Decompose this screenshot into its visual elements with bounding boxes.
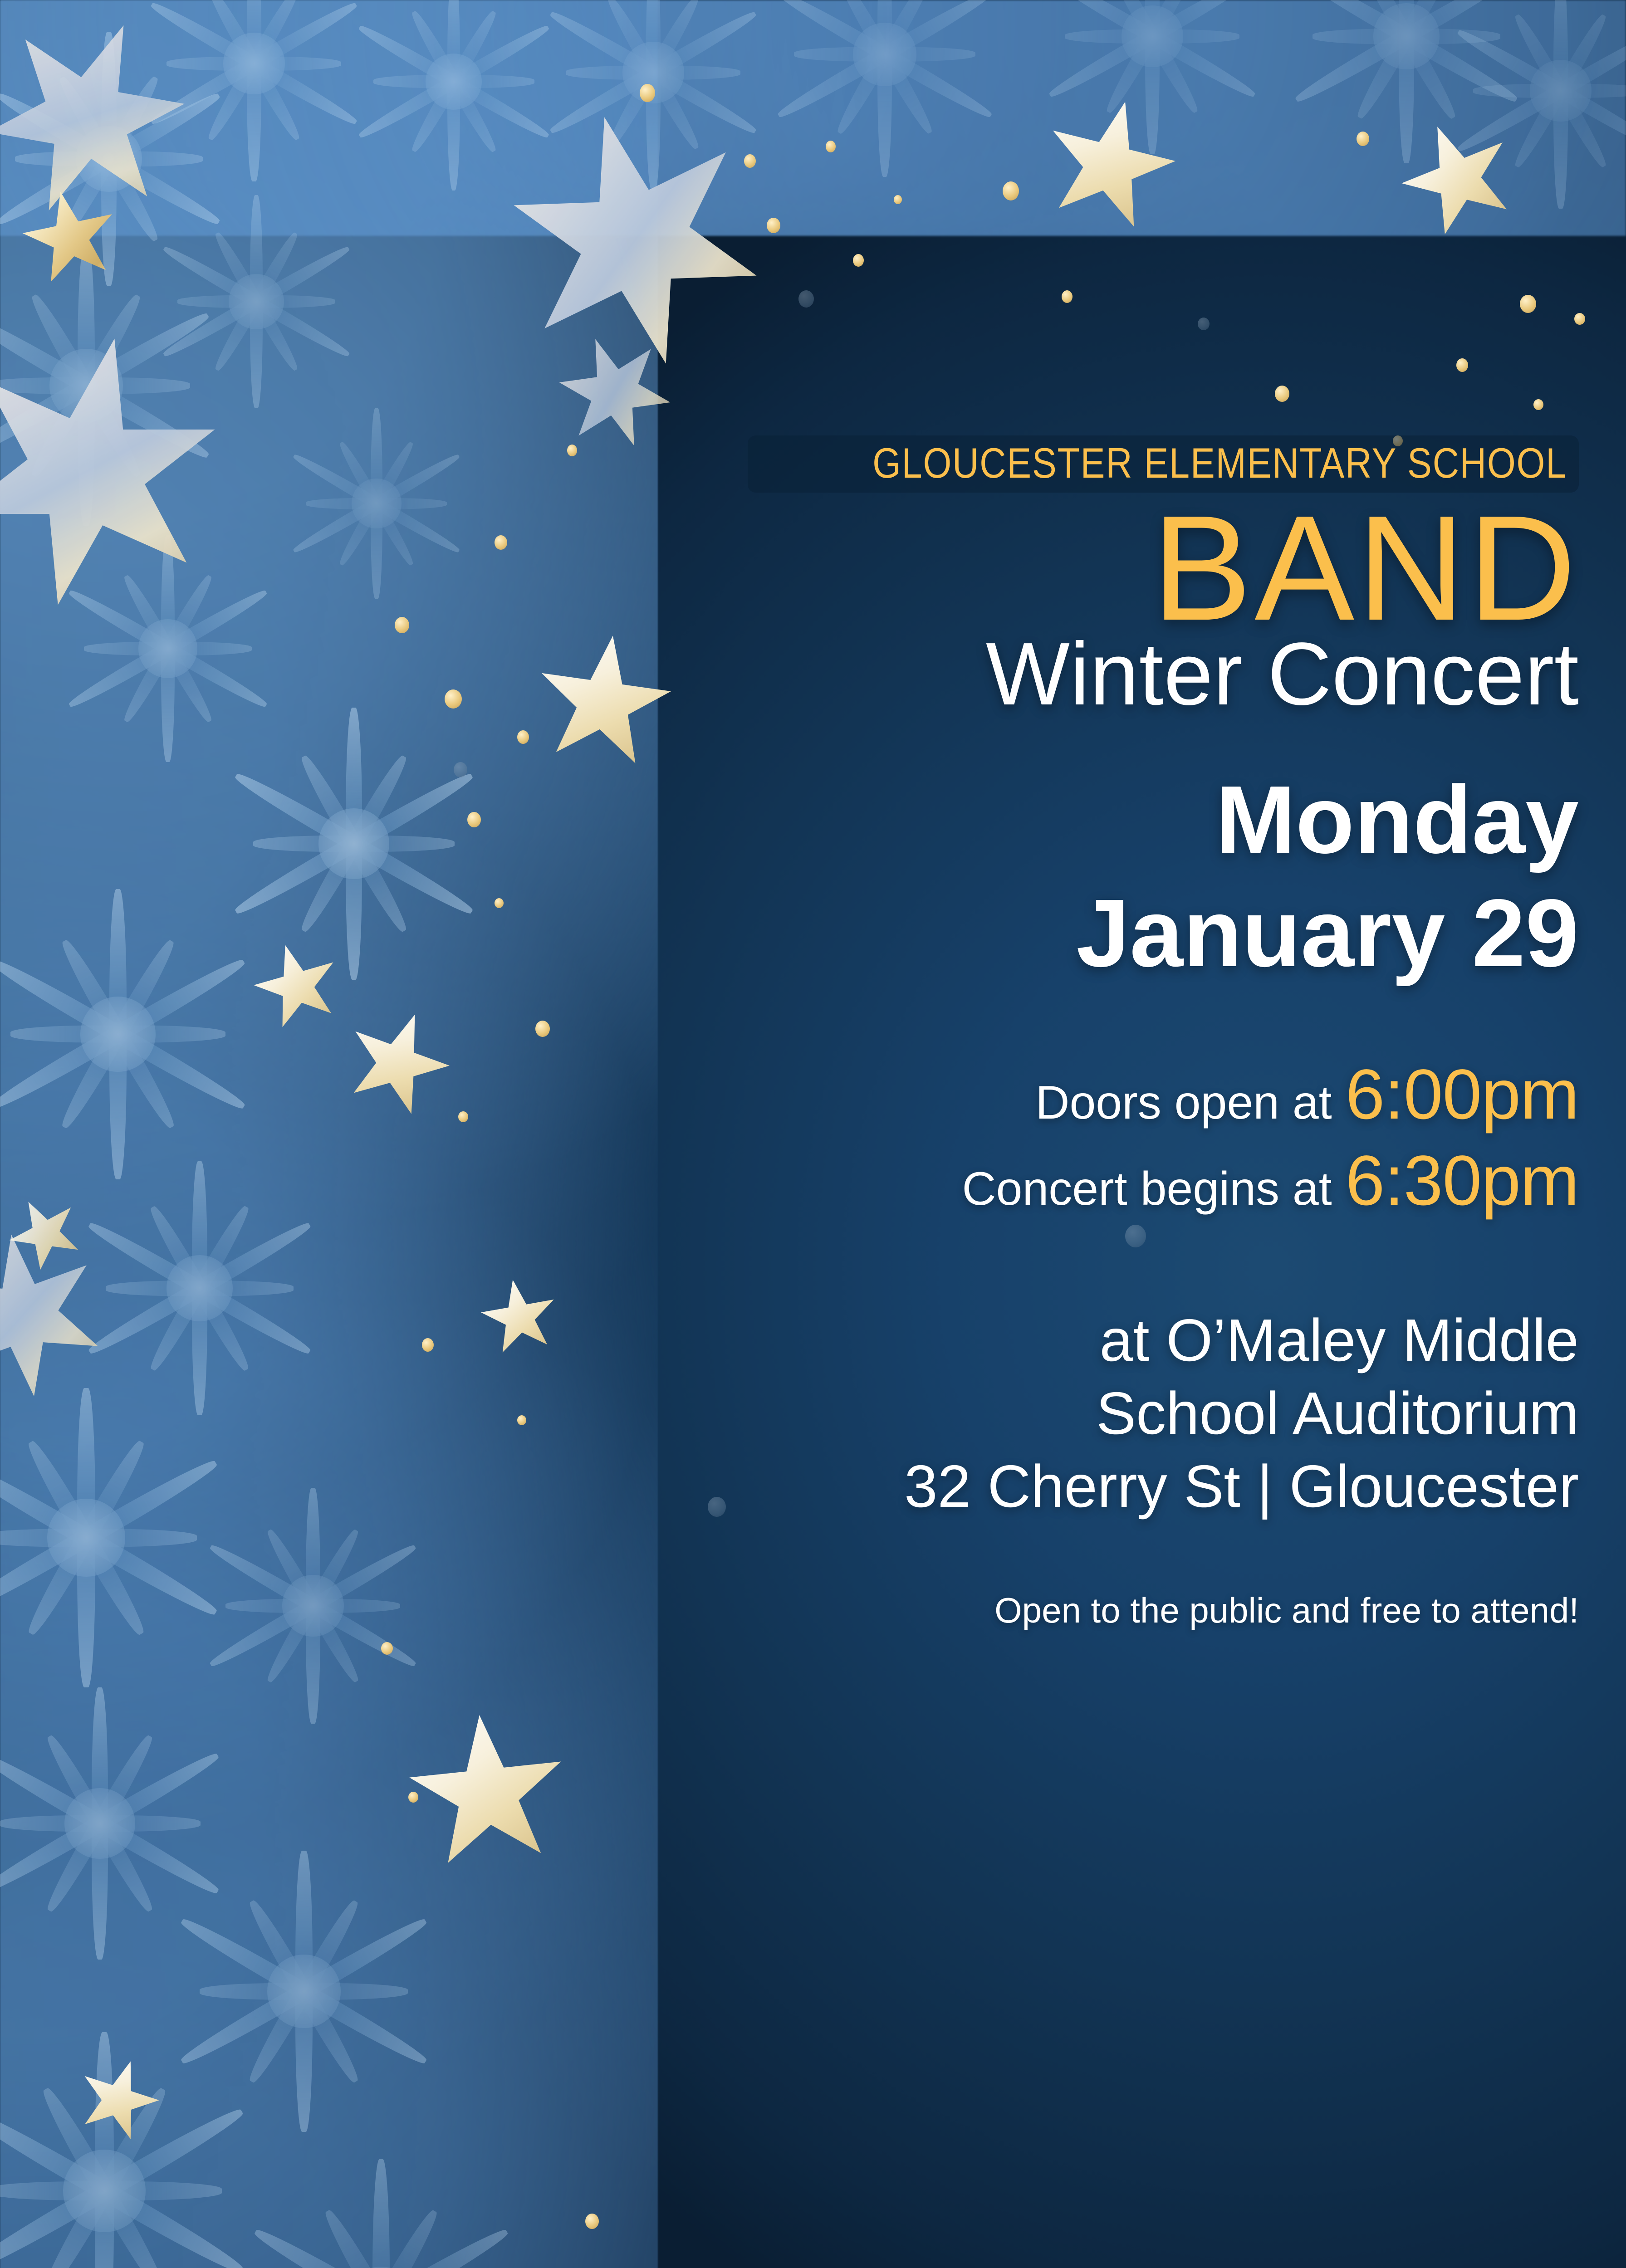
- snowflake-icon: [54, 535, 281, 762]
- snowflake-icon: [150, 195, 363, 408]
- bokeh-dot: [1357, 132, 1369, 146]
- snowflake-icon: [218, 708, 490, 980]
- school-name-plate: GLOUCESTER ELEMENTARY SCHOOL: [748, 435, 1579, 493]
- snowflake-icon: [195, 1488, 431, 1724]
- poster-content: GLOUCESTER ELEMENTARY SCHOOL BAND Winter…: [617, 435, 1579, 1631]
- snowflake-icon: [281, 408, 472, 599]
- snowflake-icon: [535, 0, 771, 191]
- snowflake-icon: [1443, 0, 1626, 209]
- snowflake-icon: [0, 245, 227, 526]
- bokeh-dot: [495, 535, 507, 550]
- bokeh-dot: [381, 1642, 393, 1655]
- gold-star-icon: [1029, 86, 1189, 245]
- snowflake-icon: [163, 1851, 445, 2132]
- bokeh-dot: [1520, 295, 1536, 313]
- bokeh-dot: [408, 1792, 418, 1803]
- bokeh-dot: [767, 218, 780, 233]
- concert-begins-label: Concert begins at: [962, 1164, 1332, 1213]
- date-monthday: January 29: [617, 876, 1579, 990]
- bokeh-dot: [567, 445, 577, 456]
- date-block: Monday January 29: [617, 763, 1579, 990]
- snowflake-icon: [136, 0, 372, 181]
- snowflake-icon: [0, 889, 263, 1179]
- snowflake-icon: [345, 0, 563, 191]
- venue-line-1: at O’Maley Middle: [617, 1304, 1579, 1377]
- snowflake-icon: [762, 0, 1007, 177]
- bokeh-dot: [585, 2214, 599, 2229]
- ornament-star-icon: [0, 310, 248, 633]
- snowflake-icon: [0, 2032, 263, 2268]
- bokeh-dot: [395, 617, 409, 633]
- bokeh-dot: [798, 290, 814, 308]
- concert-begins-time: 6:30pm: [1346, 1144, 1579, 1217]
- times-block: Doors open at 6:00pm Concert begins at 6…: [617, 1058, 1579, 1217]
- snowflake-icon: [1034, 0, 1270, 154]
- bokeh-dot: [1275, 386, 1289, 402]
- snowflake-cluster-left: [0, 0, 658, 2268]
- winter-concert-poster: GLOUCESTER ELEMENTARY SCHOOL BAND Winter…: [0, 0, 1626, 2268]
- bokeh-dot: [467, 812, 481, 827]
- gold-star-icon: [475, 1273, 564, 1363]
- ornament-star-icon: [0, 1223, 115, 1408]
- snowflake-icon: [0, 32, 236, 286]
- gold-star-icon: [0, 1185, 94, 1283]
- bokeh-dot: [495, 898, 504, 908]
- snowflake-icon: [0, 1687, 236, 1960]
- snowflake-icon: [73, 1161, 327, 1415]
- doors-open-time: 6:00pm: [1346, 1058, 1579, 1131]
- doors-open-label: Doors open at: [1035, 1078, 1332, 1127]
- bokeh-dot: [1533, 399, 1543, 410]
- ornament-star-icon: [0, 0, 216, 248]
- concert-begins-row: Concert begins at 6:30pm: [617, 1144, 1579, 1217]
- subtitle-winter-concert: Winter Concert: [617, 629, 1579, 719]
- bokeh-dot: [422, 1338, 434, 1352]
- gold-star-icon: [244, 933, 350, 1040]
- bokeh-dot: [1003, 181, 1019, 200]
- bokeh-dot: [445, 689, 462, 709]
- venue-block: at O’Maley Middle School Auditorium 32 C…: [617, 1304, 1579, 1523]
- bokeh-dot: [894, 195, 902, 204]
- school-name: GLOUCESTER ELEMENTARY SCHOOL: [872, 442, 1567, 484]
- ornament-star-icon: [481, 87, 789, 395]
- venue-line-2: School Auditorium: [617, 1377, 1579, 1450]
- venue-line-3: 32 Cherry St | Gloucester: [617, 1450, 1579, 1523]
- gold-star-icon: [401, 1707, 575, 1882]
- bokeh-dot: [1062, 290, 1073, 303]
- ornament-star-icon: [0, 2240, 237, 2268]
- gold-star-icon: [14, 181, 127, 294]
- bokeh-dot: [1574, 313, 1585, 325]
- gold-star-icon: [330, 997, 464, 1131]
- bokeh-dot: [853, 254, 864, 267]
- date-weekday: Monday: [617, 763, 1579, 876]
- bokeh-dot: [826, 141, 836, 152]
- bokeh-dot: [517, 1415, 526, 1425]
- bokeh-dot: [1198, 318, 1210, 330]
- headline-band: BAND: [617, 499, 1579, 637]
- snowflake-icon: [236, 2159, 526, 2268]
- bokeh-dot: [458, 1111, 468, 1122]
- snowflake-icon: [1279, 0, 1533, 163]
- bokeh-dot: [517, 730, 529, 744]
- bokeh-dot: [454, 762, 467, 777]
- snowflake-icon: [0, 1388, 236, 1687]
- bokeh-dot: [535, 1021, 550, 1037]
- footer-note: Open to the public and free to attend!: [617, 1590, 1579, 1631]
- bokeh-dot: [640, 84, 655, 102]
- snowflake-cluster-top: [0, 0, 1626, 236]
- gold-star-icon: [1385, 105, 1532, 253]
- doors-open-row: Doors open at 6:00pm: [617, 1058, 1579, 1131]
- bokeh-dot: [744, 154, 756, 168]
- bokeh-dot: [1456, 358, 1468, 372]
- gold-star-icon: [67, 2049, 170, 2152]
